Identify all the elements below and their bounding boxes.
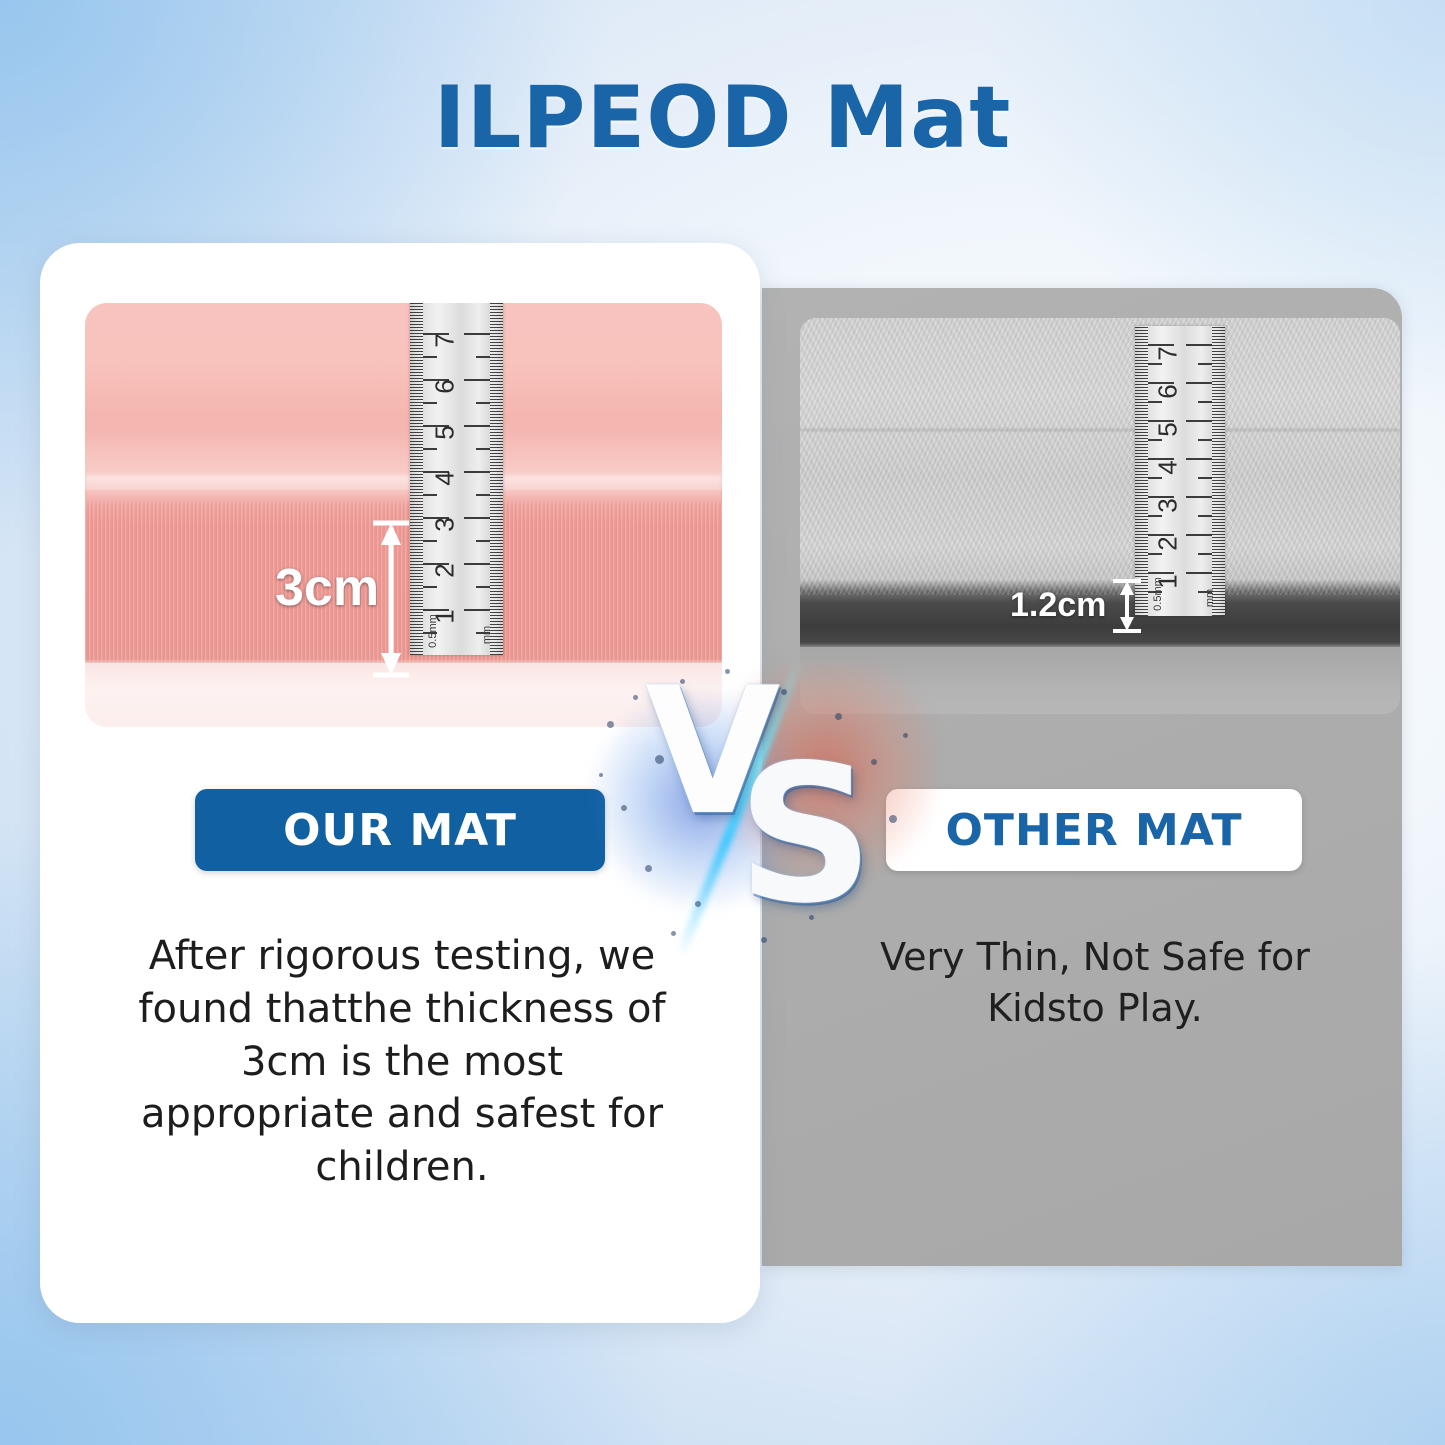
thickness-label-our: 3cm bbox=[275, 558, 379, 618]
ruler-caption-left: 0.5mm bbox=[427, 614, 439, 648]
ruler-edge-right bbox=[490, 303, 503, 655]
page-title: ILPEOD Mat bbox=[0, 68, 1445, 168]
ruler-caption-left: 0.5mm bbox=[1152, 577, 1164, 611]
product-comparison-image: ILPEOD Mat bbox=[0, 0, 1445, 1445]
ruler-number: 3 bbox=[430, 517, 461, 531]
other-mat-description: Very Thin, Not Safe for Kidsto Play. bbox=[860, 932, 1330, 1035]
pink-fabric-highlight bbox=[85, 303, 722, 490]
ruler-number: 6 bbox=[1153, 384, 1184, 398]
ruler-number: 7 bbox=[1153, 346, 1184, 360]
other-mat-badge[interactable]: OTHER MAT bbox=[886, 789, 1302, 871]
ruler-number: 7 bbox=[430, 333, 461, 347]
ruler-caption-right: mm bbox=[1204, 589, 1216, 607]
pink-fabric-fold bbox=[85, 475, 722, 505]
gray-fabric-seam bbox=[800, 429, 1400, 431]
thickness-label-other: 1.2cm bbox=[1010, 586, 1106, 625]
steel-ruler-our: 7 6 5 4 3 2 1 0.5mm mm bbox=[410, 303, 503, 655]
ruler-caption-right: mm bbox=[481, 626, 493, 644]
ruler-edge-left bbox=[1135, 326, 1148, 616]
ruler-number: 6 bbox=[430, 379, 461, 393]
our-mat-photo: 7 6 5 4 3 2 1 0.5mm mm 3cm bbox=[85, 303, 722, 727]
ruler-edge-right bbox=[1212, 326, 1225, 616]
ruler-number: 3 bbox=[1153, 498, 1184, 512]
other-mat-photo: 7 6 5 4 3 2 1 0.5mm mm 1.2cm bbox=[800, 318, 1400, 714]
ruler-number: 4 bbox=[1153, 460, 1184, 474]
ruler-number: 5 bbox=[430, 425, 461, 439]
ruler-number: 5 bbox=[1153, 422, 1184, 436]
floor-surface bbox=[800, 647, 1400, 714]
thickness-arrow-other bbox=[1111, 578, 1143, 634]
ruler-number: 2 bbox=[430, 563, 461, 577]
ruler-number: 4 bbox=[430, 471, 461, 485]
ruler-number: 2 bbox=[1153, 536, 1184, 550]
our-mat-badge[interactable]: OUR MAT bbox=[195, 789, 605, 871]
ruler-edge-left bbox=[410, 303, 423, 655]
steel-ruler-other: 7 6 5 4 3 2 1 0.5mm mm bbox=[1135, 326, 1225, 616]
our-mat-description: After rigorous testing, we found thatthe… bbox=[122, 930, 682, 1194]
gray-fabric-texture bbox=[800, 318, 1400, 595]
